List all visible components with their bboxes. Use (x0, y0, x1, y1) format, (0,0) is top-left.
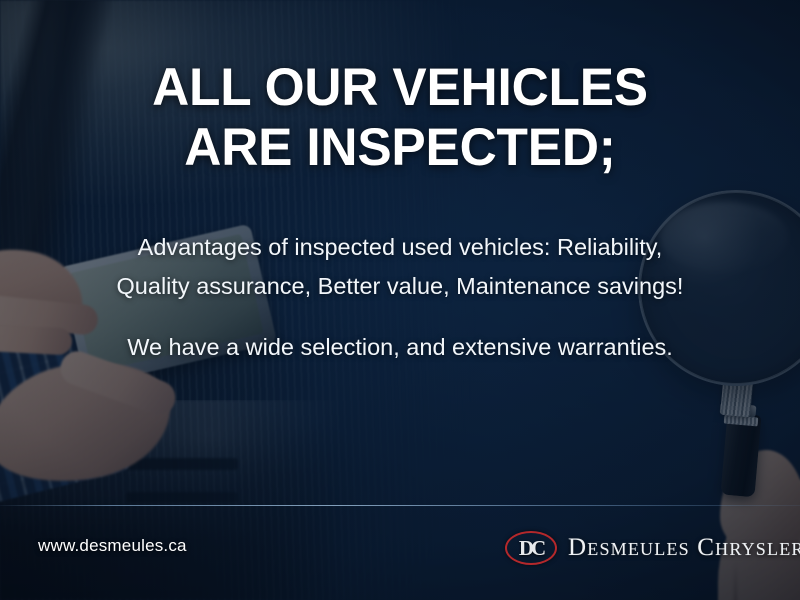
body-copy: Advantages of inspected used vehicles: R… (112, 228, 688, 367)
banner-content: ALL OUR VEHICLES ARE INSPECTED; Advantag… (0, 0, 800, 600)
logo-monogram-icon: DC (505, 531, 557, 565)
website-url[interactable]: www.desmeules.ca (38, 536, 187, 556)
headline-line-2: ARE INSPECTED; (12, 118, 788, 178)
dealership-logo[interactable]: DC Desmeules Chrysler (505, 528, 800, 568)
logo-wordmark: Desmeules Chrysler (568, 534, 800, 562)
logo-monogram-text: DC (505, 531, 557, 565)
headline: ALL OUR VEHICLES ARE INSPECTED; (12, 58, 788, 178)
body-paragraph-2: We have a wide selection, and extensive … (112, 328, 688, 367)
body-paragraph-1: Advantages of inspected used vehicles: R… (112, 228, 688, 306)
footer-divider (0, 505, 800, 506)
promo-banner: ALL OUR VEHICLES ARE INSPECTED; Advantag… (0, 0, 800, 600)
headline-line-1: ALL OUR VEHICLES (12, 58, 788, 118)
